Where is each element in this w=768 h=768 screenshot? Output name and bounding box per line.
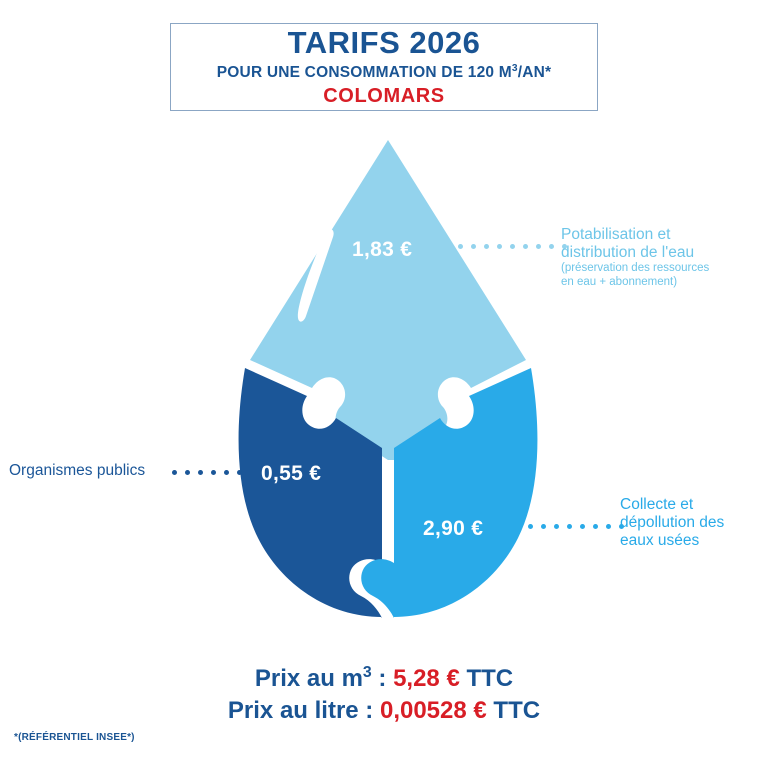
- callout-head-line2: dépollution des: [620, 514, 768, 532]
- price-litre-label: Prix au litre :: [228, 697, 380, 724]
- page-title: TARIFS 2026: [288, 27, 481, 60]
- dot: [593, 524, 598, 529]
- dot: [172, 470, 177, 475]
- callout-head-line1: Organismes publics: [9, 462, 145, 480]
- dot: [523, 244, 528, 249]
- segment-value-organismes-publics: 0,55 €: [261, 462, 321, 486]
- callout-head-line1: Potabilisation et: [561, 226, 766, 244]
- consumption-subtitle: POUR UNE CONSOMMATION DE 120 M3/AN*: [217, 63, 552, 81]
- dot: [536, 244, 541, 249]
- dot: [606, 524, 611, 529]
- price-litre-suffix: TTC: [487, 697, 540, 724]
- dot: [510, 244, 515, 249]
- connector-dots-collecte: [528, 524, 624, 529]
- dot: [528, 524, 533, 529]
- dot: [185, 470, 190, 475]
- callout-potabilisation: Potabilisation et distribution de l'eau …: [561, 226, 766, 290]
- price-m3-suffix: TTC: [460, 665, 513, 692]
- callout-sub-line2: en eau + abonnement): [561, 276, 766, 290]
- price-per-litre: Prix au litre : 0,00528 € TTC: [0, 695, 768, 727]
- callout-sub-line1: (préservation des ressources: [561, 262, 766, 276]
- city-name: COLOMARS: [323, 85, 444, 107]
- dot: [211, 470, 216, 475]
- dot: [484, 244, 489, 249]
- dot: [497, 244, 502, 249]
- dot: [237, 470, 242, 475]
- connector-dots-potabilisation: [458, 244, 567, 249]
- callout-head-line3: eaux usées: [620, 532, 768, 550]
- dot: [198, 470, 203, 475]
- subtitle-prefix: POUR UNE CONSOMMATION DE 120 M: [217, 64, 512, 81]
- dot: [549, 244, 554, 249]
- dot: [541, 524, 546, 529]
- price-per-m3: Prix au m3 : 5,28 € TTC: [0, 662, 768, 695]
- price-m3-separator: :: [372, 665, 393, 692]
- segment-value-collecte: 2,90 €: [423, 517, 483, 541]
- price-m3-label: Prix au m: [255, 665, 363, 692]
- price-m3-amount: 5,28 €: [393, 665, 460, 692]
- callout-head-line2: distribution de l'eau: [561, 244, 766, 262]
- footnote: *(RÉFÉRENTIEL INSEE*): [14, 732, 135, 743]
- price-m3-exponent: 3: [363, 664, 372, 681]
- subtitle-suffix: /AN*: [518, 64, 552, 81]
- price-summary: Prix au m3 : 5,28 € TTC Prix au litre : …: [0, 662, 768, 728]
- segment-value-potabilisation: 1,83 €: [352, 238, 412, 262]
- dot: [471, 244, 476, 249]
- droplet-puzzle-chart: [228, 138, 548, 620]
- dot: [554, 524, 559, 529]
- callout-organismes-publics: Organismes publics: [9, 462, 145, 480]
- dot: [458, 244, 463, 249]
- price-litre-amount: 0,00528 €: [380, 697, 487, 724]
- title-box: TARIFS 2026 POUR UNE CONSOMMATION DE 120…: [170, 23, 598, 111]
- dot: [224, 470, 229, 475]
- dot: [580, 524, 585, 529]
- callout-head-line1: Collecte et: [620, 496, 768, 514]
- dot: [567, 524, 572, 529]
- connector-dots-organismes-publics: [172, 470, 242, 475]
- callout-collecte: Collecte et dépollution des eaux usées: [620, 496, 768, 550]
